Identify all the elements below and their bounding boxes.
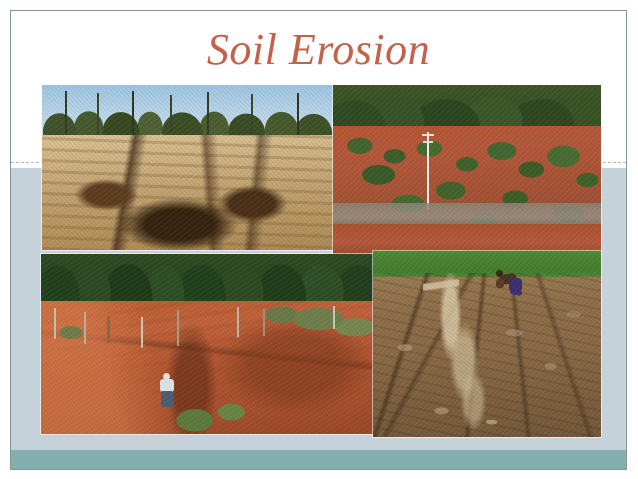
- slide-viewport: Soil Erosion Gully erosion in pale ochre…: [0, 0, 638, 479]
- photo-grain-overlay: [41, 254, 375, 434]
- photo-top-right: Eroded red lateritic hillside with scatt…: [333, 85, 601, 254]
- photo-bottom-right: Rill erosion across a muddy field with a…: [373, 251, 601, 437]
- slide-frame: Soil Erosion Gully erosion in pale ochre…: [10, 10, 627, 470]
- title-zone: Soil Erosion: [11, 17, 626, 83]
- photo-bottom-left-scene: [41, 254, 375, 434]
- photo-top-left-scene: [42, 85, 334, 250]
- photo-bottom-right-scene: [373, 251, 601, 437]
- photo-top-left: Gully erosion in pale ochre soil with sp…: [42, 85, 334, 250]
- photo-grain-overlay: [373, 251, 601, 437]
- photo-top-right-scene: [333, 85, 601, 254]
- footer-accent-band: [11, 450, 626, 470]
- photo-collage: Gully erosion in pale ochre soil with sp…: [41, 75, 599, 437]
- photo-bottom-left: Deep red soil gully with pine forest abo…: [41, 254, 375, 434]
- photo-grain-overlay: [333, 85, 601, 254]
- page-title: Soil Erosion: [207, 28, 430, 72]
- photo-grain-overlay: [42, 85, 334, 250]
